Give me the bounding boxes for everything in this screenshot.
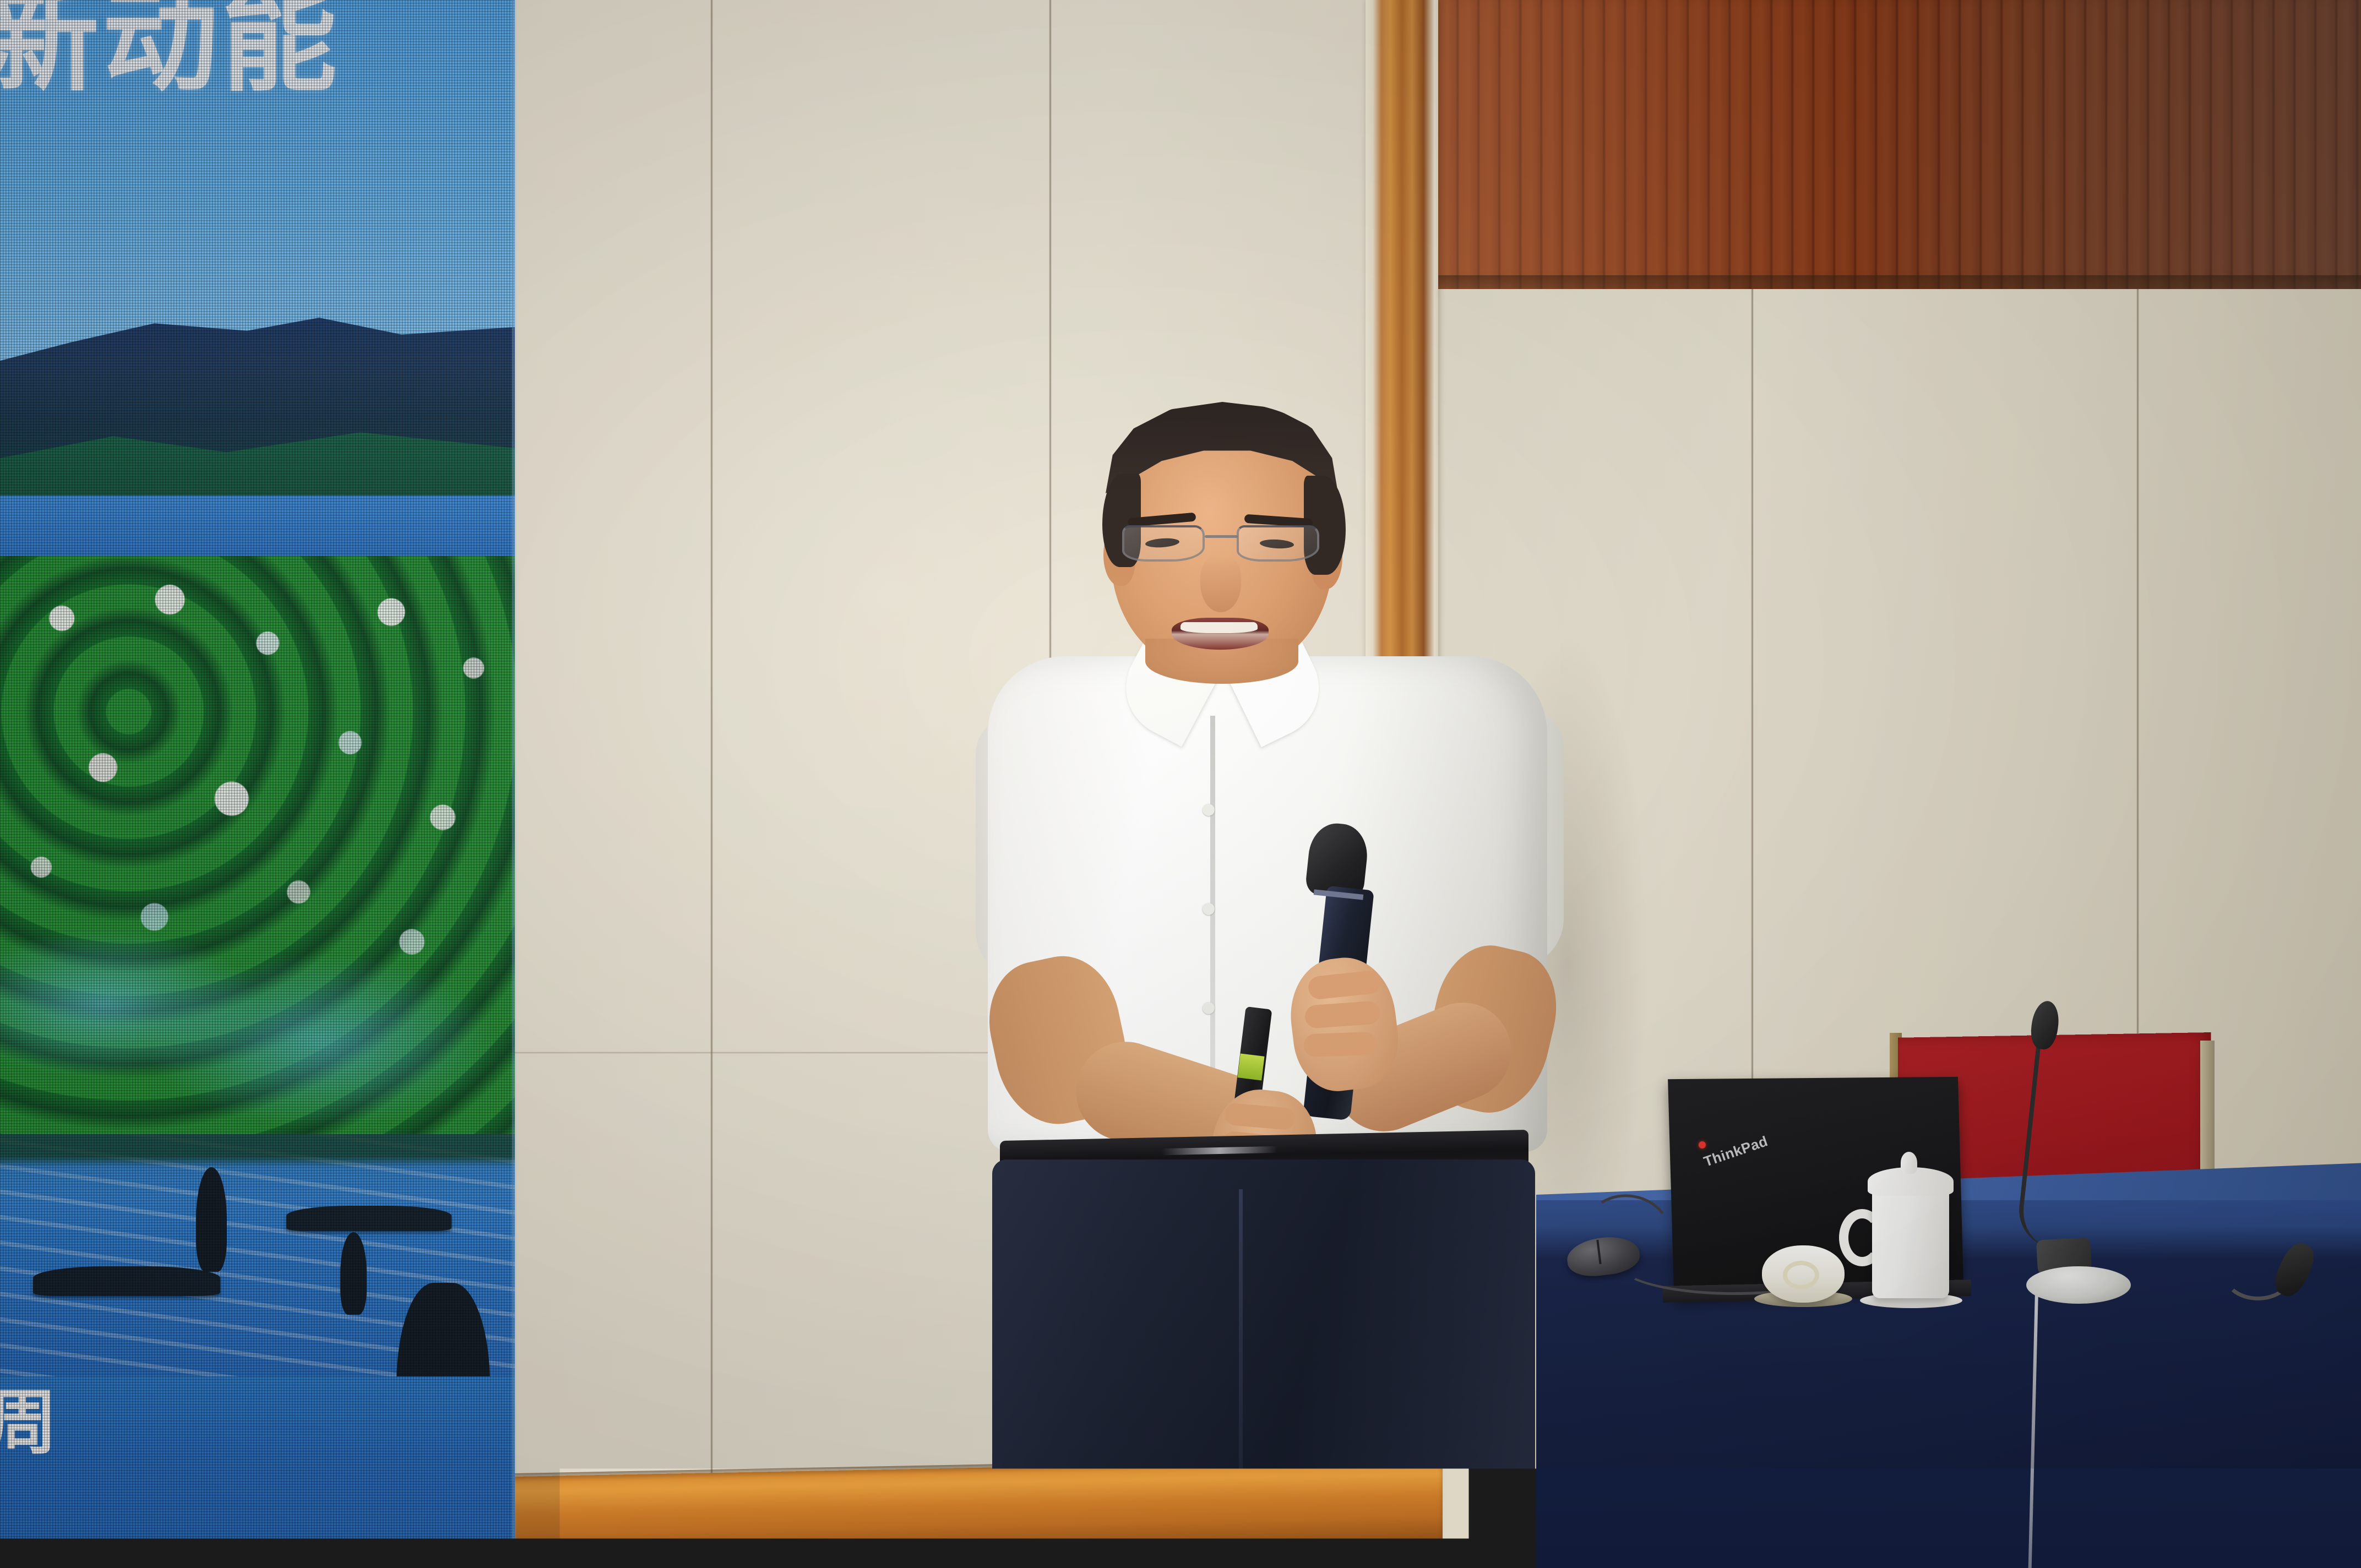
teacup-lid-knob	[1901, 1152, 1917, 1174]
screen-boat	[33, 1266, 220, 1296]
laptop-indicator-icon	[1699, 1141, 1706, 1148]
photo-scene: 新动能 周 ThinkPad	[0, 0, 2361, 1568]
screen-figure	[196, 1167, 227, 1272]
screen-corner-text: 周	[0, 1365, 57, 1467]
finger	[1303, 1032, 1377, 1058]
presenter	[980, 407, 1619, 1568]
screen-bottom-band	[0, 1376, 515, 1568]
shirt-button	[1203, 903, 1215, 915]
glasses-lens-right	[1237, 525, 1319, 562]
screen-figure	[340, 1232, 367, 1315]
trousers	[992, 1159, 1535, 1568]
screen-title-text: 新动能	[0, 0, 340, 98]
nose	[1200, 555, 1241, 612]
glasses-bridge	[1205, 535, 1238, 538]
towel-roll-swirl	[1783, 1261, 1819, 1289]
led-display-screen: 新动能 周	[0, 0, 515, 1568]
screen-boat	[286, 1206, 451, 1231]
shirt-button	[1203, 804, 1215, 816]
trouser-crease	[1239, 1189, 1243, 1568]
wood-slat-panel	[1438, 0, 2361, 289]
teacup-body	[1872, 1188, 1949, 1298]
screen-lotus-pond	[0, 556, 515, 1178]
shirt-button	[1203, 1002, 1215, 1014]
gooseneck-mic-base[interactable]	[2026, 1266, 2131, 1304]
teeth	[1180, 622, 1258, 633]
wall-panel-seam	[710, 0, 713, 1568]
glasses-lens-left	[1122, 525, 1205, 562]
screen-bezel	[512, 0, 517, 1568]
laser-pointer-label	[1237, 1053, 1264, 1080]
